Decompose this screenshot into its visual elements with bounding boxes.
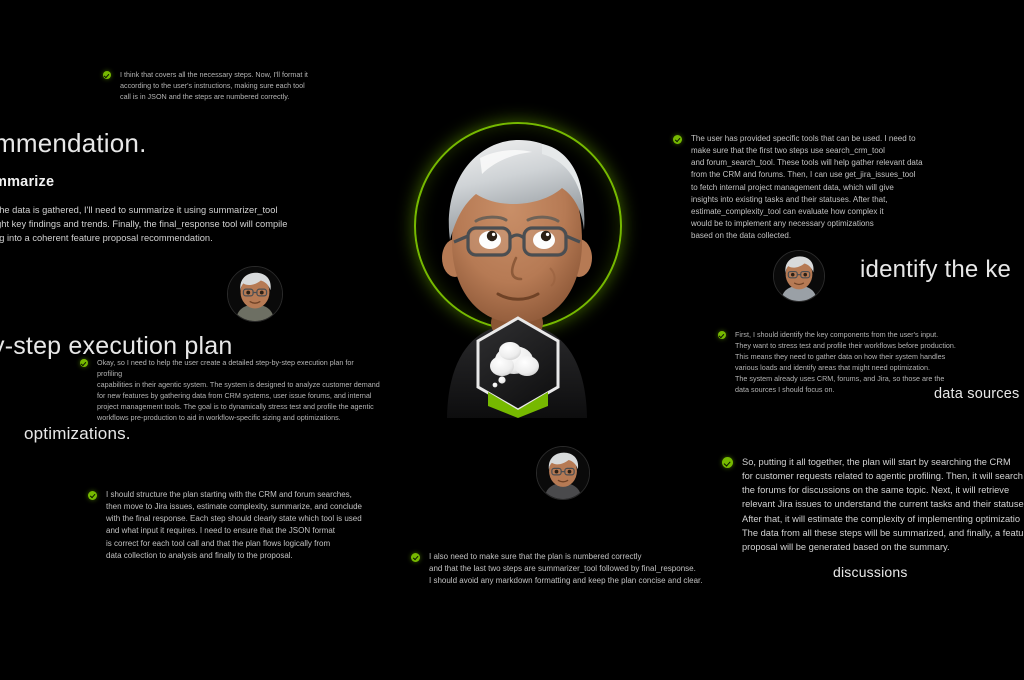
avatar-right[interactable] [773,250,825,302]
thought-execution-plan: Okay, so I need to help the user create … [80,358,380,424]
check-icon [80,359,88,367]
body-summarize: l the data is gathered, I'll need to sum… [0,203,322,245]
headline-execution-plan: y-step execution plan [0,332,232,361]
thought-putting-together: So, putting it all together, the plan wi… [722,455,1024,554]
headline-summarize: mmarize [0,174,54,190]
thought-structure-plan: I should structure the plan starting wit… [88,489,388,562]
thought-bubble-icon [470,314,566,418]
check-icon [722,457,733,468]
check-icon [411,553,420,562]
check-icon [718,331,726,339]
thought-provided-tools: The user has provided specific tools tha… [673,133,1018,242]
hero-avatar [392,118,642,418]
headline-identify-key: identify the ke [860,256,1011,284]
canvas: mmendation. mmarize y-step execution pla… [0,0,1024,680]
headline-discussions: discussions [833,564,908,580]
thought-format-steps: I think that covers all the necessary st… [103,70,333,103]
thought-key-components: First, I should identify the key compone… [718,330,1024,396]
check-icon [673,135,682,144]
headline-optimizations: optimizations. [24,424,131,444]
thought-numbering-check: I also need to make sure that the plan i… [411,551,721,587]
check-icon [103,71,111,79]
avatar-left[interactable] [227,266,283,322]
headline-recommendation: mmendation. [0,128,147,159]
avatar-bottom[interactable] [536,446,590,500]
check-icon [88,491,97,500]
